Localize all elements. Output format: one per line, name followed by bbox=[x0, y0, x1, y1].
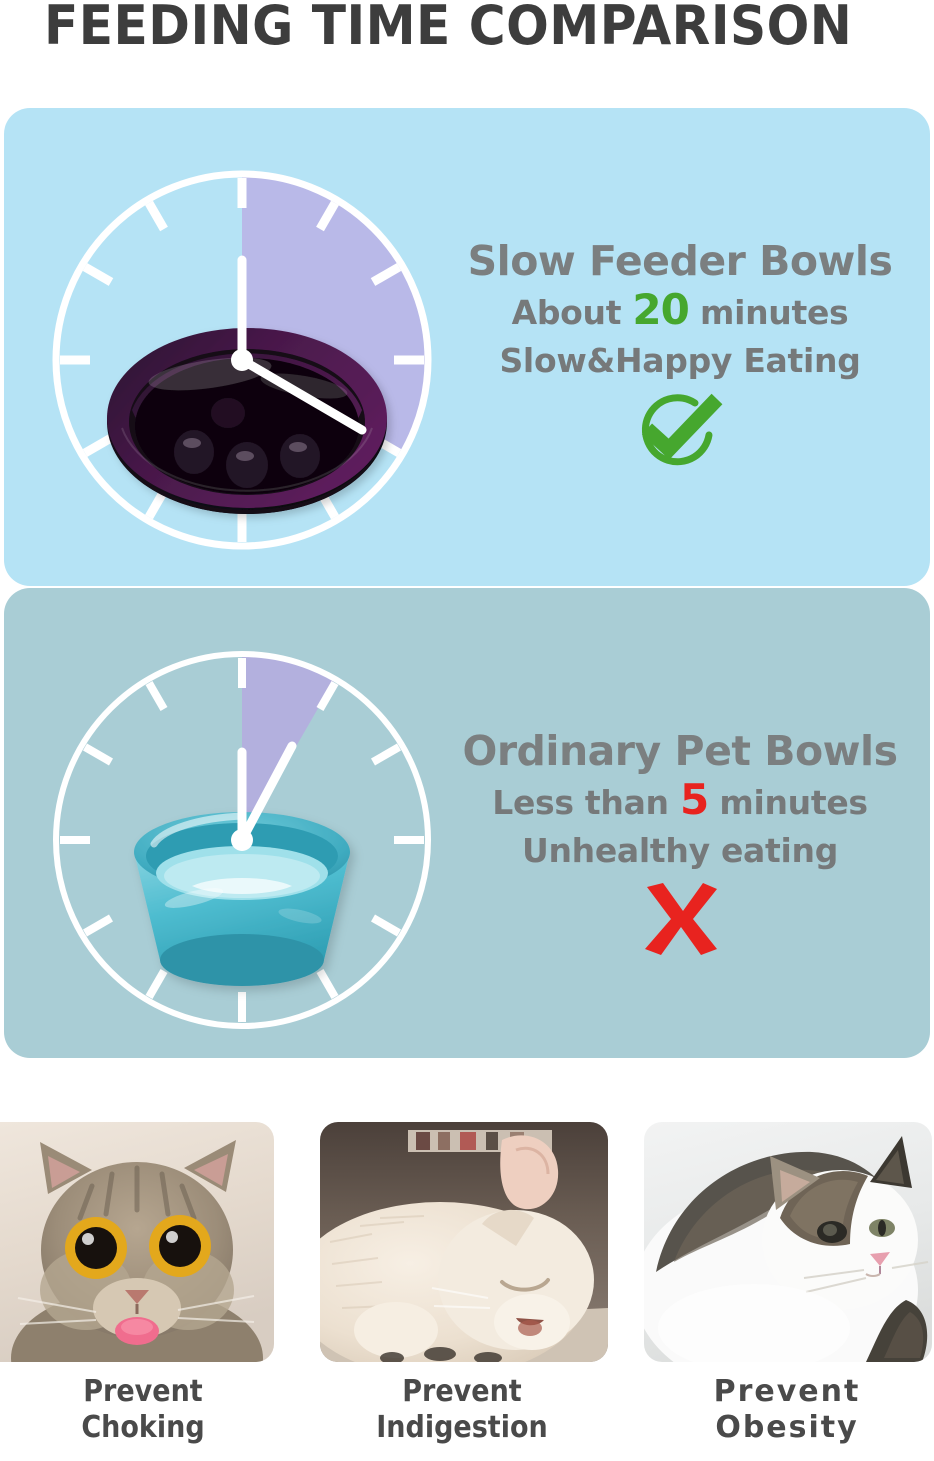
caption-3-line2: Obesity bbox=[640, 1410, 934, 1446]
caption-3-line1: Prevent bbox=[640, 1374, 934, 1410]
copy-ordinary-bowl: Ordinary Pet Bowls Less than 5 minutes U… bbox=[432, 726, 928, 959]
slow-feeder-duration-prefix: About bbox=[512, 293, 633, 332]
check-mark-icon bbox=[432, 389, 928, 469]
caption-prevent-obesity: Prevent Obesity bbox=[640, 1374, 934, 1446]
caption-2-line1: Prevent bbox=[327, 1374, 597, 1410]
clock-ordinary-bowl bbox=[42, 640, 442, 1040]
ordinary-bowl-duration-prefix: Less than bbox=[492, 783, 680, 822]
ordinary-bowl-tagline: Unhealthy eating bbox=[432, 827, 928, 875]
slow-feeder-duration: About 20 minutes bbox=[432, 286, 928, 337]
page-title: FEEDING TIME COMPARISON bbox=[44, 0, 844, 56]
photo-prevent-choking bbox=[0, 1122, 274, 1362]
benefit-photo-row bbox=[0, 1122, 934, 1372]
copy-slow-feeder: Slow Feeder Bowls About 20 minutes Slow&… bbox=[432, 236, 928, 469]
caption-prevent-choking: Prevent Choking bbox=[14, 1374, 271, 1446]
caption-1-line1: Prevent bbox=[14, 1374, 271, 1410]
slow-feeder-heading: Slow Feeder Bowls bbox=[432, 236, 928, 286]
photo-prevent-obesity bbox=[644, 1122, 932, 1362]
cross-mark-icon bbox=[432, 879, 928, 959]
ordinary-bowl-duration-suffix: minutes bbox=[708, 783, 868, 822]
ordinary-bowl-duration: Less than 5 minutes bbox=[432, 776, 928, 827]
ordinary-bowl-heading: Ordinary Pet Bowls bbox=[432, 726, 928, 776]
slow-feeder-tagline: Slow&Happy Eating bbox=[432, 337, 928, 385]
ordinary-bowl-minutes-value: 5 bbox=[680, 775, 708, 824]
caption-2-line2: Indigestion bbox=[327, 1410, 597, 1446]
slow-feeder-duration-suffix: minutes bbox=[689, 293, 849, 332]
caption-1-line2: Choking bbox=[14, 1410, 271, 1446]
slow-feeder-minutes-value: 20 bbox=[632, 285, 688, 334]
photo-prevent-indigestion bbox=[320, 1122, 608, 1362]
caption-prevent-indigestion: Prevent Indigestion bbox=[327, 1374, 597, 1446]
clock-slow-feeder bbox=[42, 160, 442, 560]
